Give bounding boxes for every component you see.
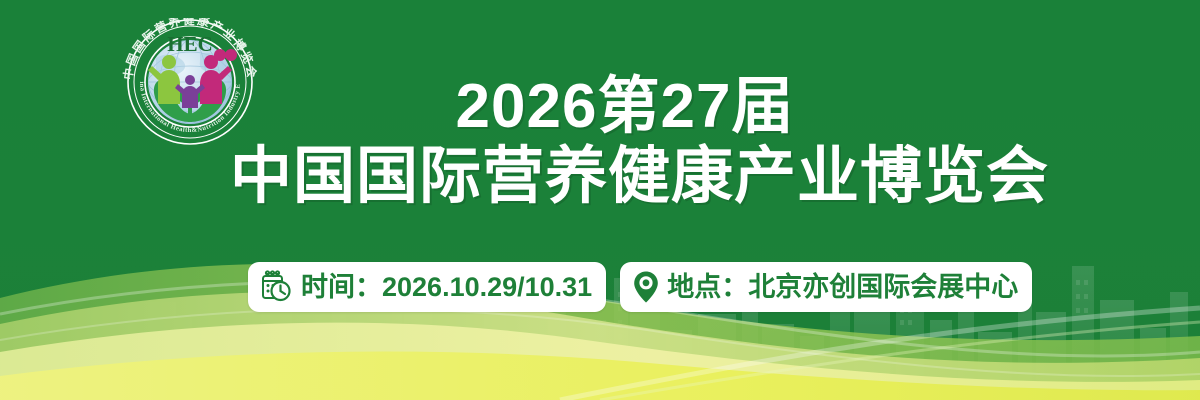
event-date-pill: 时间：2026.10.29/10.31 — [248, 262, 606, 312]
calendar-clock-icon — [260, 270, 294, 304]
banner-title-line1: 2026第27届 — [230, 74, 1020, 140]
logo-hec-text: HEC — [167, 32, 213, 56]
event-date-text: 时间：2026.10.29/10.31 — [301, 274, 592, 301]
banner-title-line2: 中国国际营养健康产业博览会 — [230, 142, 1020, 212]
event-venue-pill: 地点：北京亦创国际会展中心 — [620, 262, 1032, 312]
event-venue-text: 地点：北京亦创国际会展中心 — [667, 274, 1018, 301]
map-pin-icon — [632, 270, 660, 304]
expo-banner: HEC 中国国际营养健康产业博览会 China International He… — [0, 0, 1200, 400]
banner-title-block: 2026第27届 中国国际营养健康产业博览会 — [230, 74, 1020, 212]
event-info-bar: 时间：2026.10.29/10.31 地点：北京亦创国际会展中心 — [248, 262, 996, 312]
